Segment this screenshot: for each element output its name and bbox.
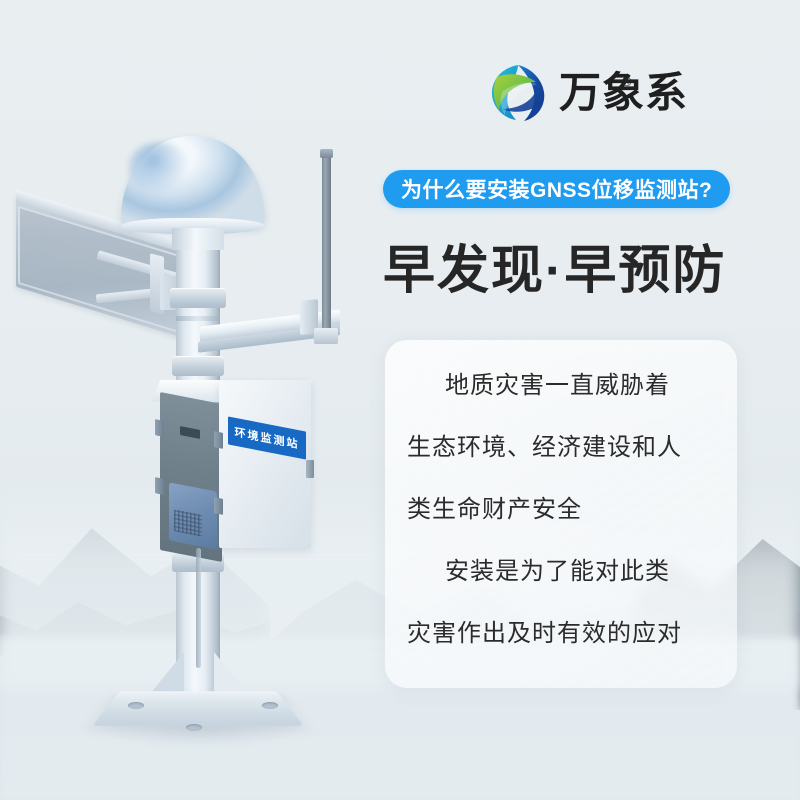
gnss-antenna-dome-highlight bbox=[128, 142, 190, 194]
enclosure-hinge-2 bbox=[155, 477, 164, 495]
antenna-rod bbox=[322, 152, 331, 334]
question-banner: 为什么要安装GNSS位移监测站? bbox=[383, 170, 730, 208]
base-bolt-hole-2 bbox=[262, 702, 278, 709]
info-card-line-4: 安装是为了能对此类 bbox=[407, 560, 715, 584]
globe-swirl-logo-icon bbox=[487, 62, 549, 124]
page-title: 早发现·早预防 bbox=[383, 228, 726, 303]
base-gusset-right bbox=[214, 652, 248, 694]
info-card-body: 地质灾害一直威胁着 生态环境、经济建设和人 类生命财产安全 安装是为了能对此类 … bbox=[385, 340, 737, 646]
brand-logo: 万象系 bbox=[487, 62, 688, 124]
enclosure-hinge-3 bbox=[214, 431, 223, 449]
enclosure-hinge-4 bbox=[214, 497, 223, 515]
poster-canvas: 环境监测站 bbox=[0, 0, 800, 800]
gnss-antenna-neck bbox=[172, 228, 224, 250]
pole-clamp-middle bbox=[172, 356, 224, 376]
info-card: 地质灾害一直威胁着 生态环境、经济建设和人 类生命财产安全 安装是为了能对此类 … bbox=[385, 340, 737, 688]
info-card-line-2: 生态环境、经济建设和人 bbox=[407, 436, 715, 460]
info-card-line-3: 类生命财产安全 bbox=[407, 498, 715, 522]
power-cable bbox=[196, 548, 201, 668]
mast-pole-seam bbox=[176, 316, 220, 321]
base-bolt-hole-3 bbox=[186, 724, 202, 731]
base-gusset-left bbox=[150, 652, 184, 694]
info-card-line-5: 灾害作出及时有效的应对 bbox=[407, 622, 715, 646]
monitoring-station-illustration: 环境监测站 bbox=[0, 0, 400, 800]
enclosure-hinge-1 bbox=[155, 419, 164, 437]
antenna-rod-foot bbox=[314, 328, 338, 344]
pole-clamp-upper bbox=[170, 288, 226, 308]
registered-trademark-icon: ® bbox=[622, 74, 632, 89]
info-card-line-1: 地质灾害一直威胁着 bbox=[407, 374, 715, 398]
antenna-rod-cap bbox=[320, 149, 333, 158]
enclosure-box-face bbox=[219, 380, 311, 548]
base-bolt-hole-1 bbox=[128, 702, 144, 709]
enclosure-latch bbox=[306, 460, 314, 478]
